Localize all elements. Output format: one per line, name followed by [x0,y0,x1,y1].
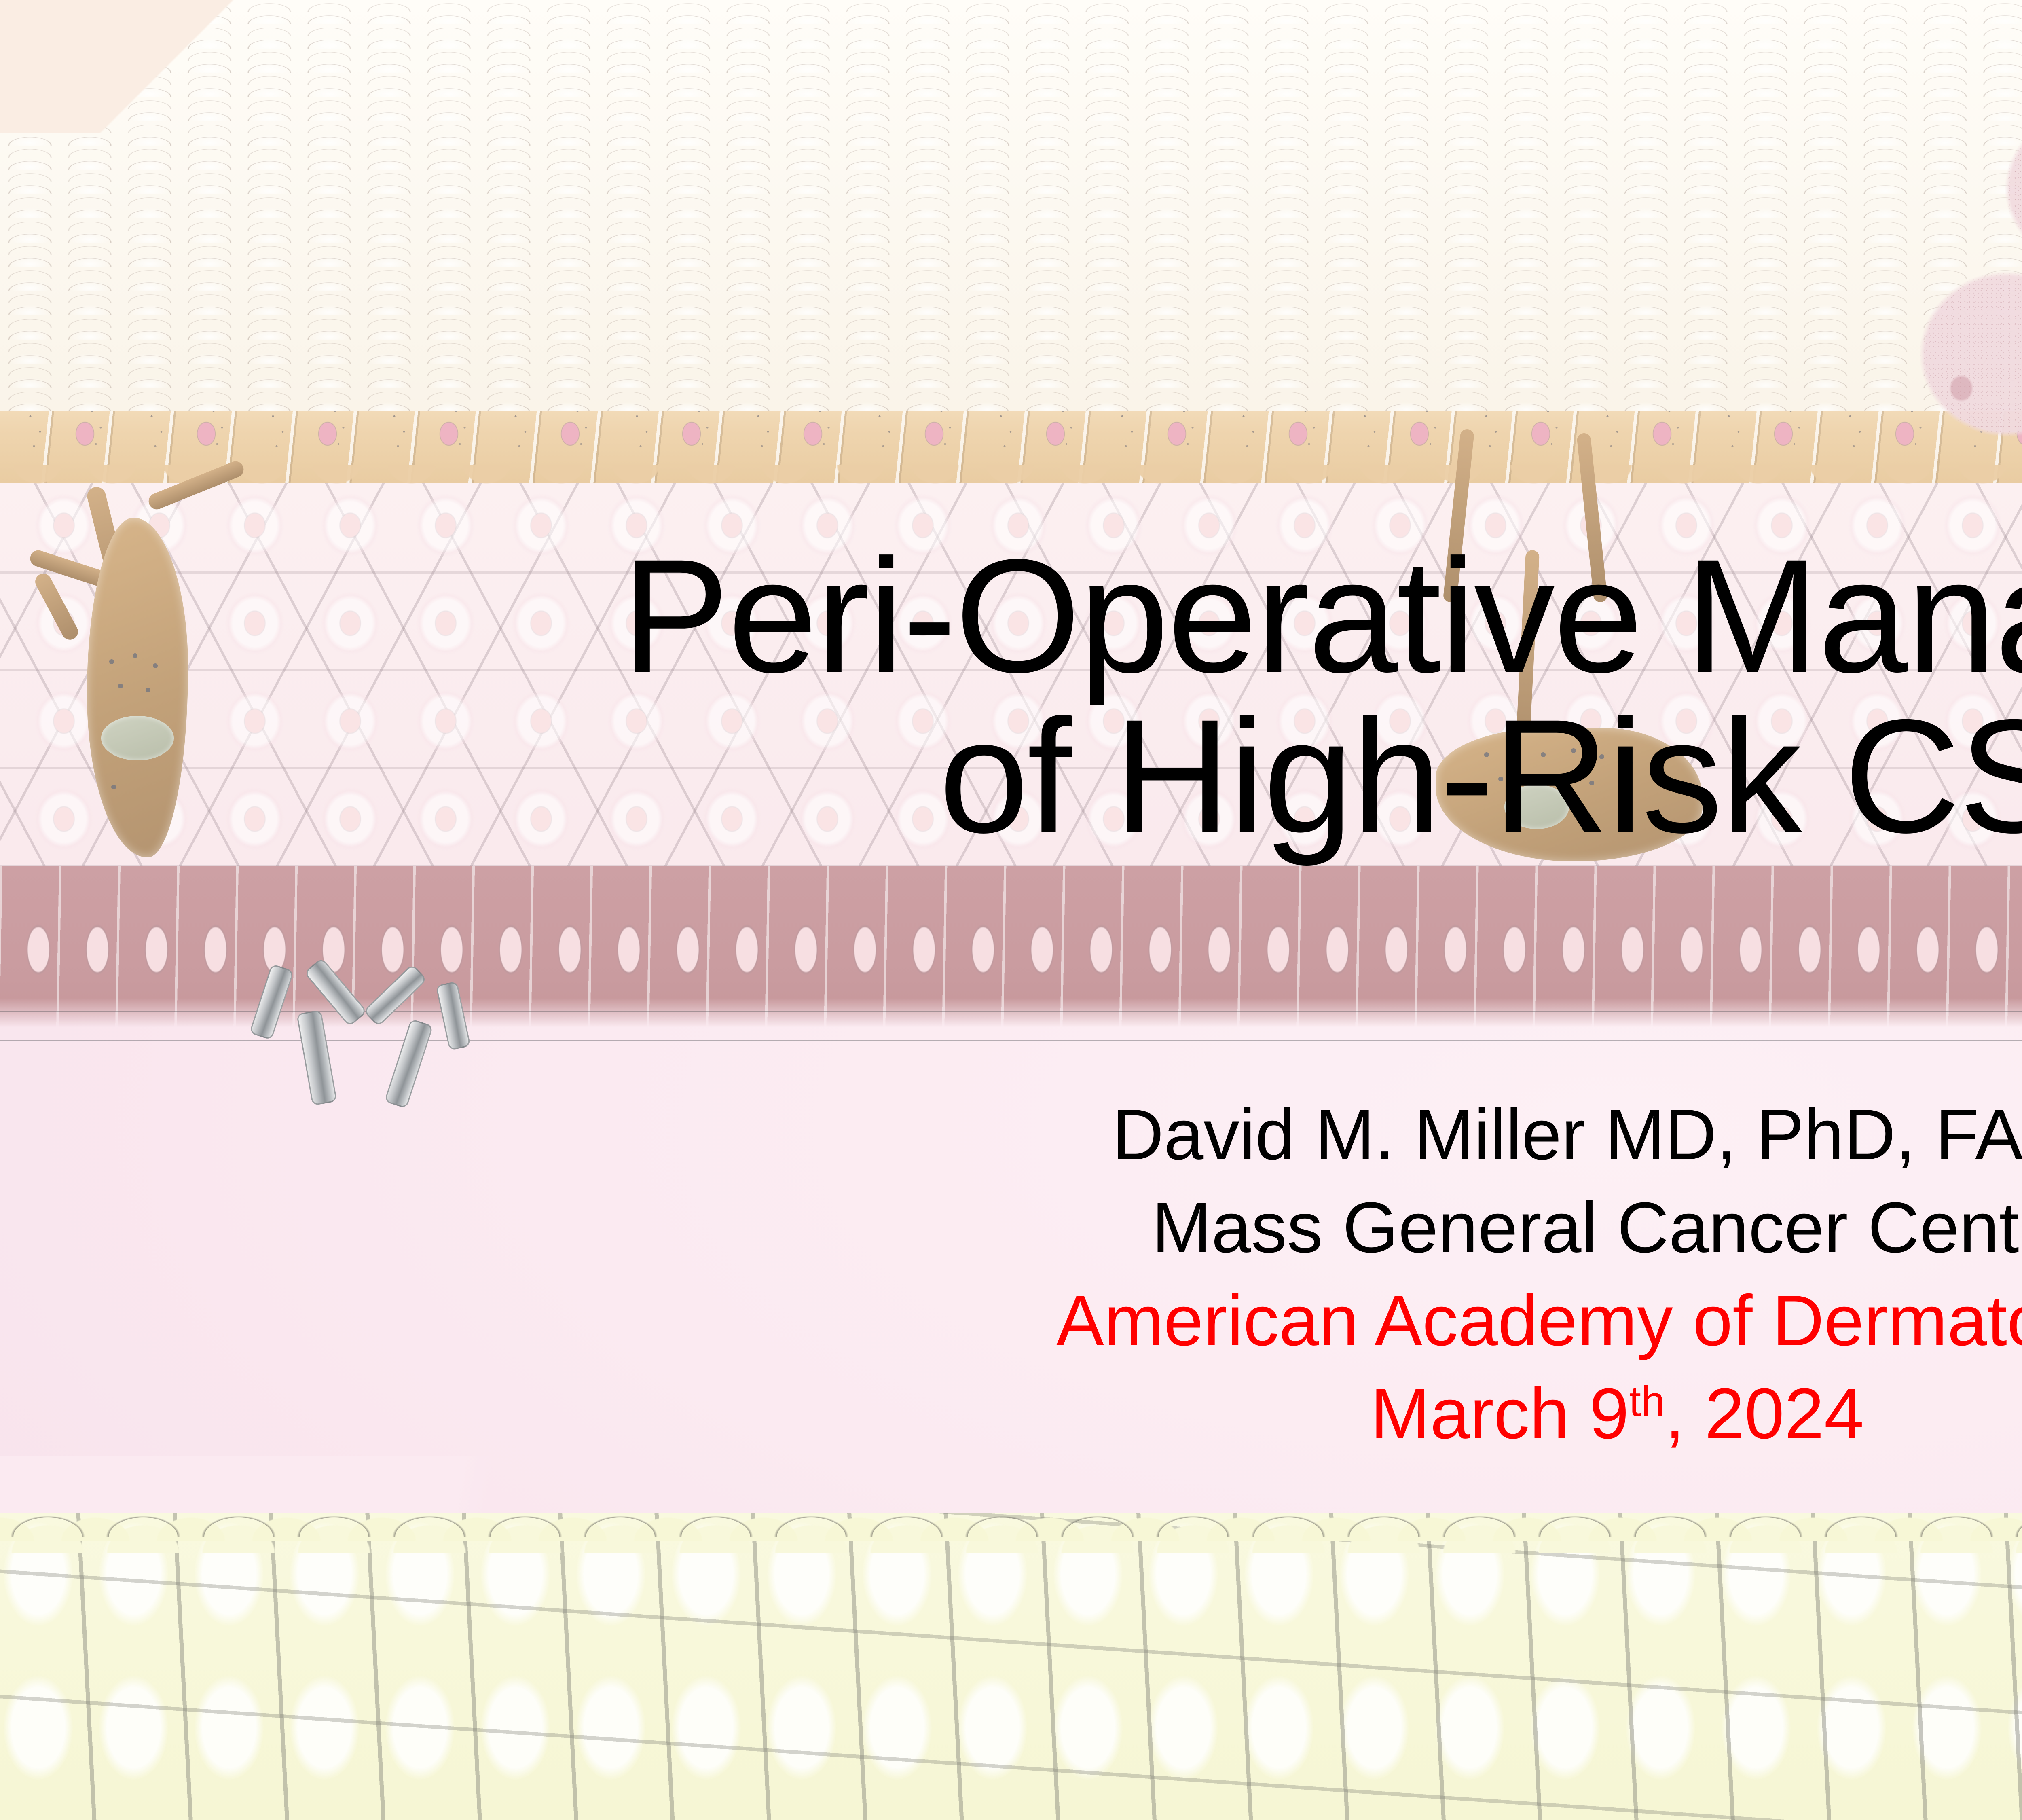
subcutaneous-fat-layer [0,1513,2022,1820]
date-prefix: March 9 [1371,1373,1629,1454]
subtitle-affiliation: Mass General Cancer Center [0,1181,2022,1274]
corneum-step-corner [0,0,477,133]
presentation-slide: Peri-Operative Management of High-Risk C… [0,0,2022,1820]
slide-subtitle: David M. Miller MD, PhD, FAAD Mass Gener… [0,1088,2022,1460]
antibody-fab-arm [436,981,471,1051]
antibody-fab-arm [249,964,294,1040]
date-year: , 2024 [1665,1373,1864,1454]
subtitle-date: March 9th, 2024 [0,1367,2022,1460]
subtitle-conference: American Academy of Dermatology [0,1274,2022,1367]
subtitle-presenter: David M. Miller MD, PhD, FAAD [0,1088,2022,1181]
fat-boundary-line [0,1476,2022,1537]
date-ordinal-suffix: th [1629,1377,1665,1425]
title-line-1: Peri-Operative Management [0,536,2022,696]
title-line-2: of High-Risk CSCC [0,696,2022,856]
slide-title: Peri-Operative Management of High-Risk C… [0,536,2022,856]
